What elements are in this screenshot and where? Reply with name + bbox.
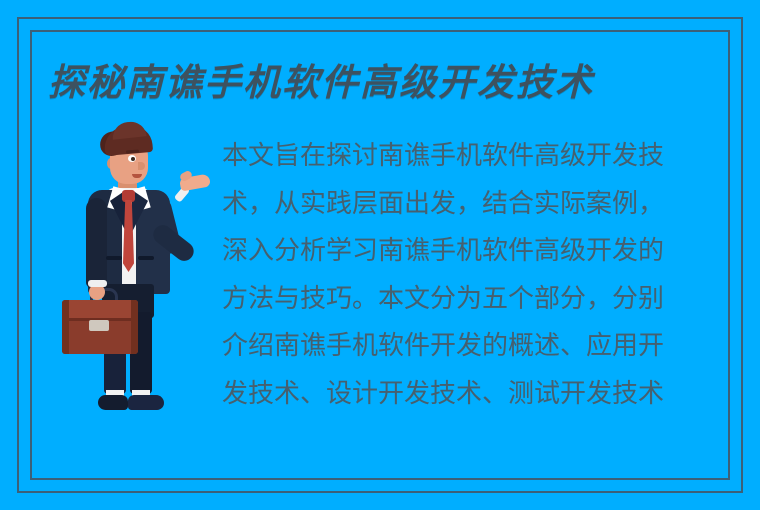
right-shoe [128, 395, 164, 410]
businessman-illustration [60, 124, 220, 420]
left-shoe [98, 395, 128, 410]
body-line: 方法与技巧。本文分为五个部分，分别 [222, 276, 734, 324]
corner-watermark [710, 474, 744, 500]
briefcase-side-right [131, 300, 138, 354]
poster-body-text: 本文旨在探讨南谯手机软件高级开发技 术，从实践层面出发，结合实际案例， 深入分析… [222, 133, 734, 418]
body-line: 发技术、设计开发技术、测试开发技术 [222, 371, 734, 419]
left-arm [86, 198, 107, 288]
briefcase-side-left [62, 300, 69, 354]
body-line: 本文旨在探讨南谯手机软件高级开发技 [222, 133, 734, 181]
briefcase-latch [89, 320, 109, 331]
body-line: 深入分析学习南谯手机软件高级开发的 [222, 228, 734, 276]
briefcase-flap [62, 300, 138, 320]
poster-title: 探秘南谯手机软件高级开发技术 [48, 56, 708, 108]
body-line: 介绍南谯手机软件开发的概述、应用开 [222, 323, 734, 371]
left-shirt-cuff [88, 280, 107, 287]
jacket-pocket-right [138, 256, 154, 260]
jacket-pocket-left [106, 256, 122, 260]
poster-canvas: 探秘南谯手机软件高级开发技术 本文旨在探讨南谯手机软件高级开发技 术，从实践层面… [0, 0, 760, 510]
pupil [131, 157, 135, 161]
body-line: 术，从实践层面出发，结合实际案例， [222, 181, 734, 229]
